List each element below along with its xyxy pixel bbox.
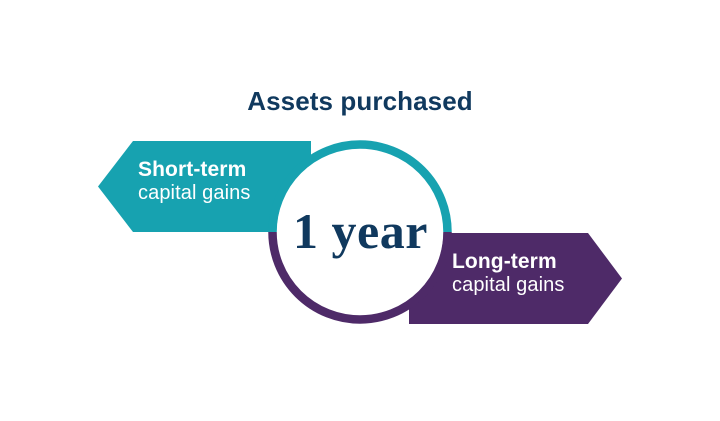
short-term-label: Short-term capital gains <box>138 158 250 206</box>
milestone-label: 1 year <box>273 202 448 260</box>
short-term-subline: capital gains <box>138 182 250 205</box>
long-term-label: Long-term capital gains <box>452 250 564 298</box>
short-term-headline: Short-term <box>138 158 250 182</box>
long-term-subline: capital gains <box>452 274 564 297</box>
capital-gains-infographic: Assets purchased Short-term capital gain… <box>0 0 720 421</box>
long-term-headline: Long-term <box>452 250 564 274</box>
